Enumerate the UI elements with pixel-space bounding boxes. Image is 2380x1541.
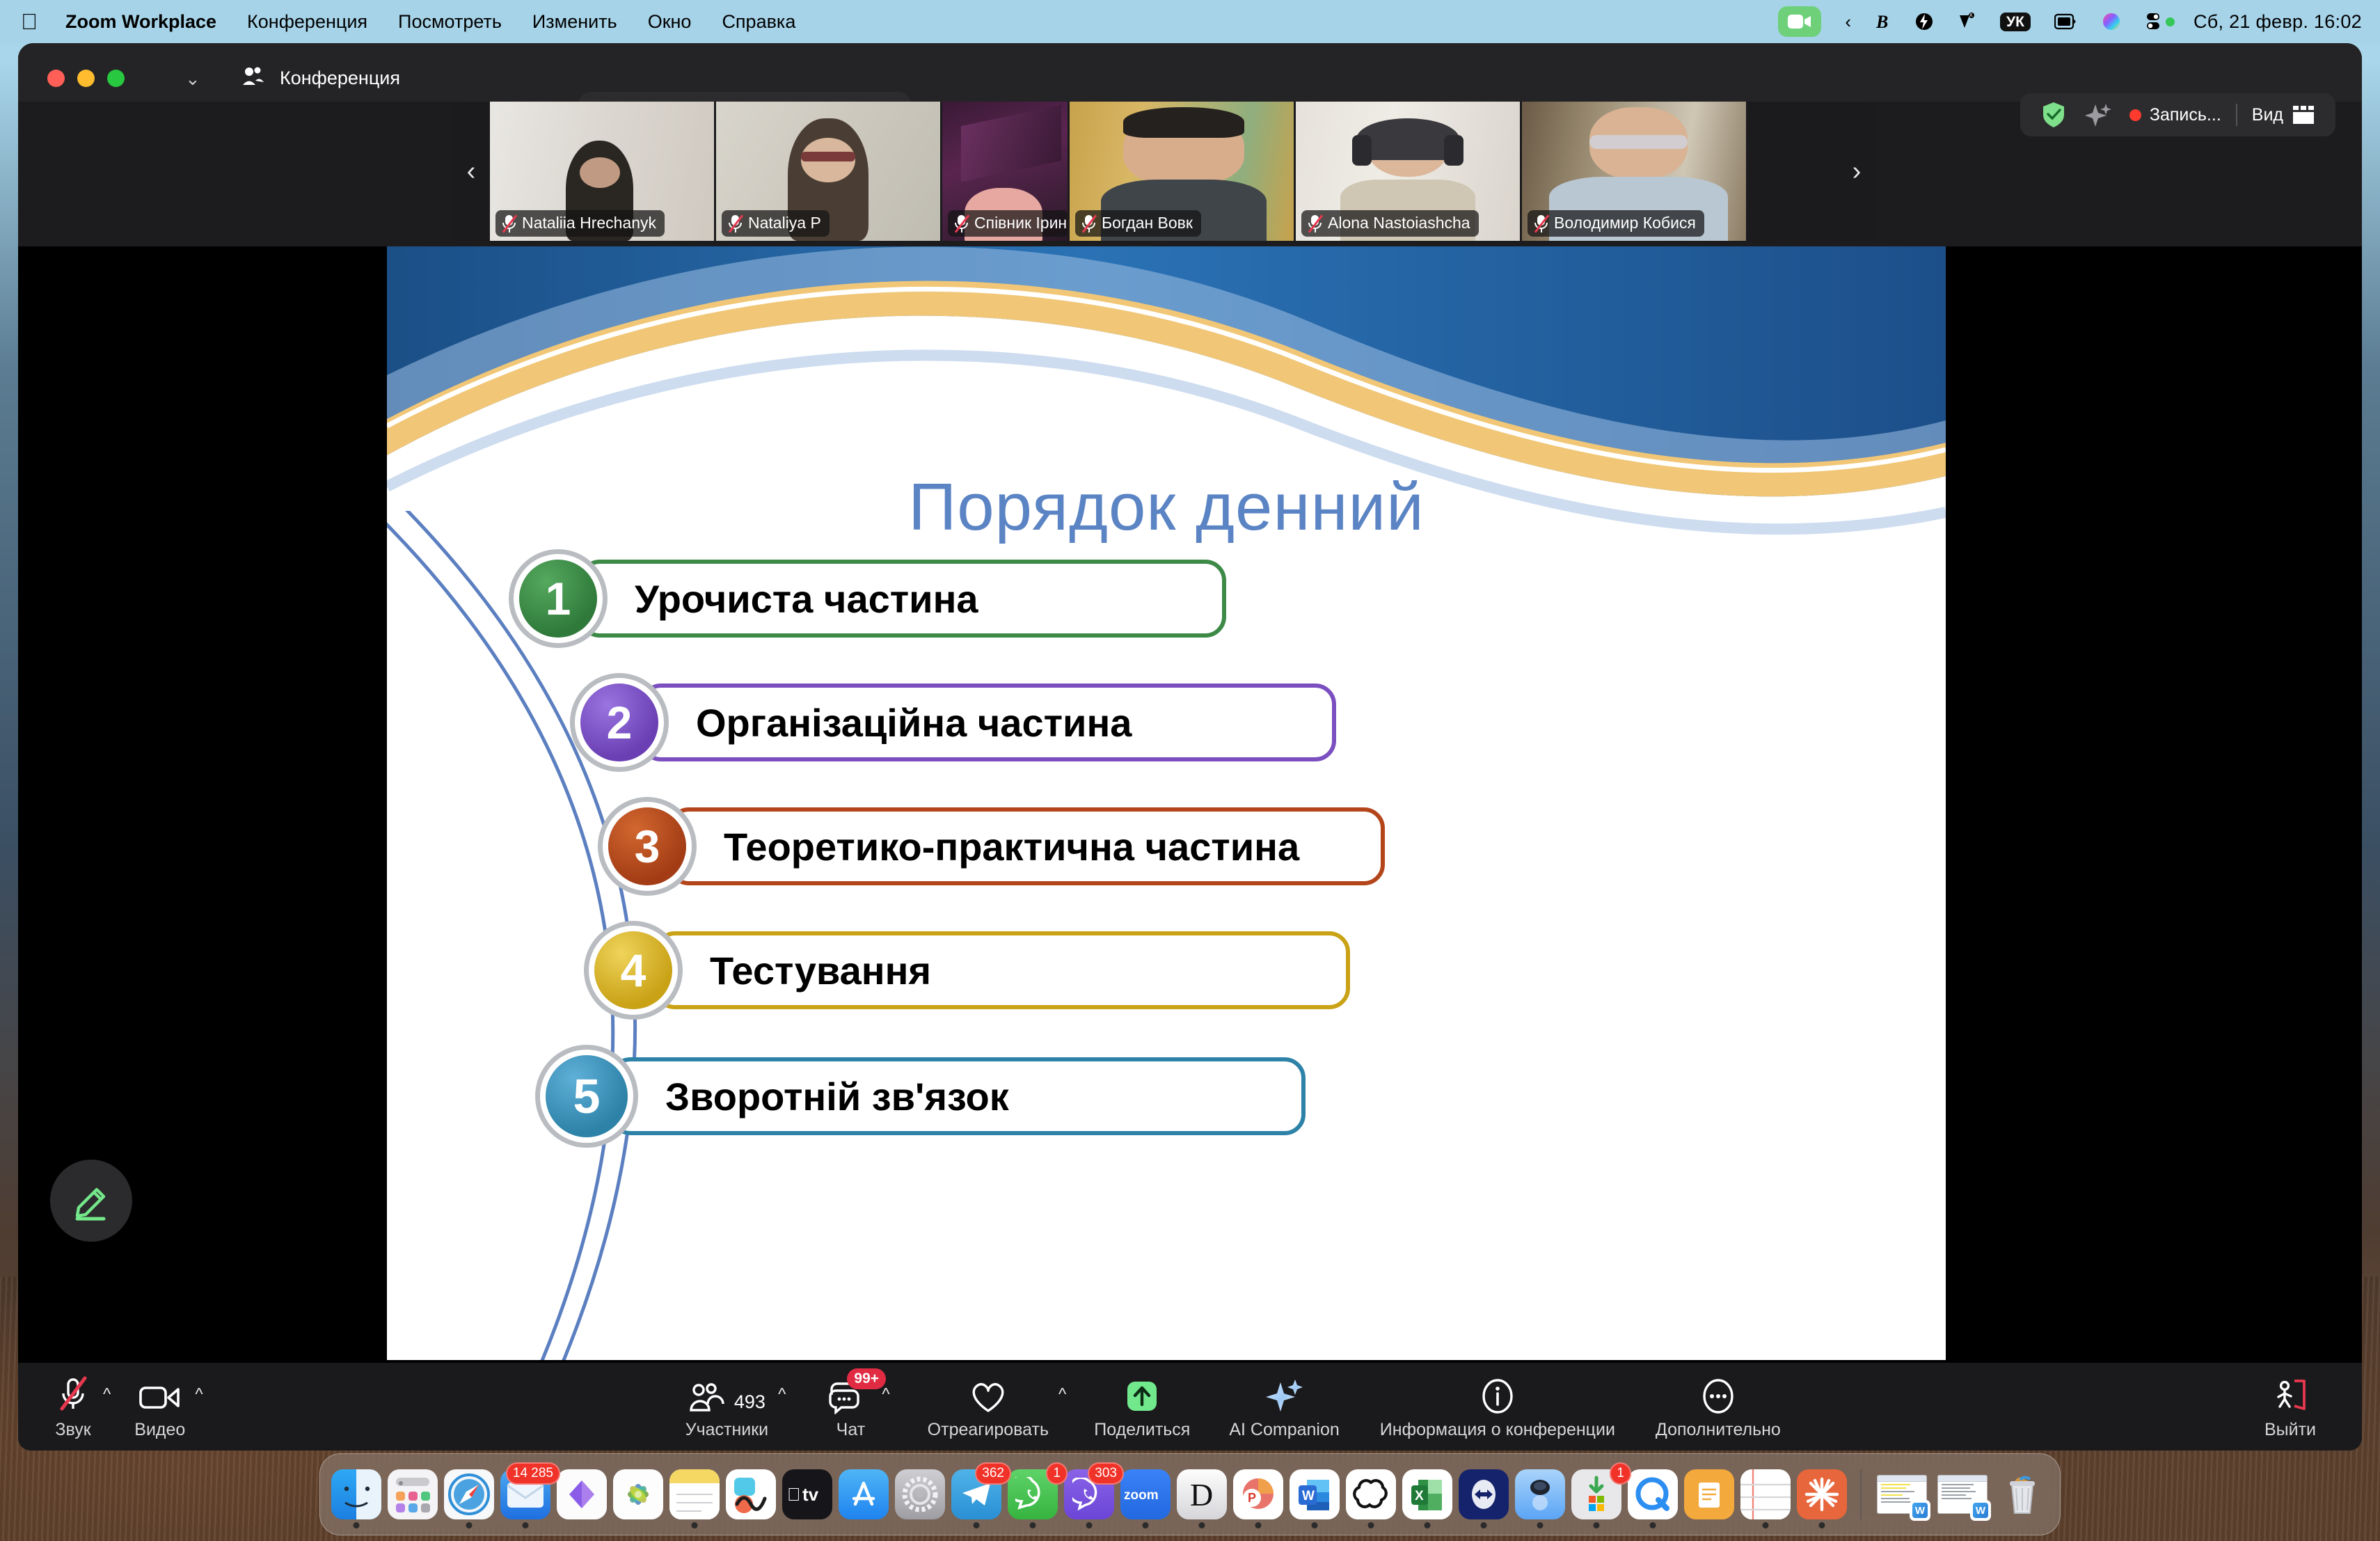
participants-button[interactable]: 493 Участники — [680, 1363, 774, 1451]
titlebar-right-controls: Запись... Вид — [2020, 93, 2335, 136]
pencil-icon — [69, 1178, 113, 1223]
agenda-number-label: 5 — [573, 1068, 601, 1124]
window-title-bar: ⌄ Конференция Экран (Mykola Zhurba) ⋯ — [18, 43, 2362, 102]
meeting-info-button[interactable]: Информация о конференции — [1374, 1363, 1621, 1451]
microphone-muted-icon — [53, 1374, 93, 1414]
agenda-item-number: 2 — [580, 683, 658, 761]
people-icon: 493 — [688, 1374, 765, 1414]
leave-label: Выйти — [2264, 1420, 2316, 1440]
ellipsis-circle-icon — [1700, 1374, 1736, 1414]
keyboard-layout-label: УК — [2000, 13, 2031, 31]
chatgpt-icon[interactable] — [1346, 1469, 1396, 1519]
word-document-window[interactable]: W — [1875, 1469, 1929, 1519]
zoom-camera-icon[interactable] — [1766, 0, 1833, 43]
mic-muted-icon — [1308, 214, 1322, 232]
recording-indicator[interactable]: Запись... — [2120, 105, 2230, 125]
menu-item-zoom-workplace[interactable]: Zoom Workplace — [50, 0, 232, 43]
running-dot — [692, 1522, 698, 1528]
photos-icon[interactable] — [613, 1469, 663, 1519]
display-icon[interactable] — [2042, 0, 2090, 43]
macos-menu-bar:  Zoom Workplace Конференция Посмотреть … — [0, 0, 2380, 43]
reactions-button[interactable]: Отреагировать — [922, 1363, 1054, 1451]
maximize-button[interactable] — [107, 70, 125, 87]
notes-icon[interactable] — [669, 1469, 720, 1519]
running-dot — [1594, 1522, 1600, 1528]
siri-icon[interactable] — [2090, 0, 2133, 43]
participant-name: Богдан Вовк — [1102, 214, 1193, 232]
app-store-icon[interactable] — [839, 1469, 889, 1519]
video-button[interactable]: Видео — [129, 1363, 191, 1451]
macos-dock: 14 285 tv — [319, 1453, 2061, 1535]
participant-name: Володимир Кобися — [1554, 214, 1696, 232]
menu-item-window[interactable]: Окно — [633, 0, 707, 43]
leave-door-icon — [2271, 1374, 2310, 1414]
participant-nameplate: Співник Ірина — [948, 210, 1068, 237]
meeting-toolbar: Звук ^ Видео ^ — [18, 1363, 2362, 1451]
anydesk-icon[interactable] — [1459, 1469, 1509, 1519]
running-dot — [1819, 1522, 1825, 1528]
agenda-item-number: 5 — [546, 1055, 628, 1137]
vpn-icon[interactable]: x — [1945, 0, 1988, 43]
running-dot — [1255, 1522, 1262, 1528]
participant-filmstrip: ‹ Nataliia Hrechanyk — [452, 102, 1875, 241]
camera-icon — [138, 1374, 182, 1414]
running-dot — [1537, 1522, 1544, 1528]
chat-button[interactable]: 99+ Чат — [823, 1363, 878, 1451]
participant-tile[interactable]: Alona Nastoiashcha — [1296, 102, 1520, 241]
agenda-item-pill: Організаційна частина — [640, 683, 1336, 761]
svg-text:B: B — [1875, 12, 1888, 32]
whatsapp-badge: 1 — [1046, 1462, 1068, 1485]
system-settings-icon[interactable] — [895, 1469, 945, 1519]
meeting-info-label: Информация о конференции — [1380, 1420, 1615, 1440]
keyboard-layout-indicator[interactable]: УК — [1988, 0, 2042, 43]
security-button[interactable] — [2031, 101, 2076, 129]
status-green-dot — [2166, 17, 2175, 26]
telegram-badge: 362 — [975, 1462, 1011, 1485]
menu-item-conference[interactable]: Конференция — [232, 0, 383, 43]
agenda-item-row[interactable]: 5 Зворотній зв'язок — [546, 1055, 1306, 1137]
word-icon[interactable]: W — [1290, 1469, 1340, 1519]
freeform-icon[interactable] — [557, 1469, 607, 1519]
agenda-number-label: 1 — [546, 572, 571, 625]
ai-companion-button[interactable]: AI Companion — [1223, 1363, 1344, 1451]
close-button[interactable] — [47, 70, 65, 87]
participant-nameplate: Nataliya P — [722, 210, 830, 237]
agenda-item-row[interactable]: 1 Урочиста частина — [519, 560, 1226, 638]
agenda-item-number: 1 — [519, 560, 597, 638]
running-dot — [1425, 1522, 1431, 1528]
menu-bar-clock[interactable]: Сб, 21 февр. 16:02 — [2187, 11, 2362, 33]
more-options-label: Дополнительно — [1656, 1420, 1781, 1440]
heart-icon — [969, 1374, 1008, 1414]
agenda-item-row[interactable]: 3 Теоретико-практична частина — [608, 807, 1385, 885]
svg-text:X: X — [1415, 1489, 1424, 1503]
agenda-item-number: 3 — [608, 807, 686, 885]
share-button[interactable]: Поделиться — [1088, 1363, 1196, 1451]
grid-view-icon — [2292, 104, 2315, 125]
running-dot — [1368, 1522, 1374, 1528]
agenda-item-pill: Тестування — [654, 931, 1350, 1009]
chat-label: Чат — [836, 1420, 865, 1440]
word-app-badge-icon: W — [1970, 1500, 1991, 1521]
participant-name: Alona Nastoiashcha — [1328, 214, 1470, 232]
svg-text:tv: tv — [802, 1484, 819, 1505]
ai-companion-label: AI Companion — [1229, 1420, 1339, 1440]
running-dot — [1481, 1522, 1487, 1528]
goodnotes-icon[interactable] — [726, 1469, 776, 1519]
viber-badge: 303 — [1088, 1462, 1124, 1485]
shield-icon — [2040, 101, 2067, 129]
launchpad-icon[interactable] — [388, 1469, 438, 1519]
control-center-chevron-icon[interactable]: ‹ — [1833, 0, 1863, 43]
powerpoint-icon[interactable]: P — [1233, 1469, 1283, 1519]
running-dot — [466, 1522, 473, 1528]
participant-name: Співник Ірина — [974, 214, 1068, 232]
microsoft-installer-icon[interactable]: 1 — [1571, 1469, 1621, 1519]
participant-tile[interactable]: Володимир Кобися — [1522, 102, 1746, 241]
running-dot — [1312, 1522, 1318, 1528]
mute-button[interactable]: Звук — [47, 1363, 99, 1451]
agenda-item-row[interactable]: 4 Тестування — [594, 931, 1350, 1009]
presentation-slide: Порядок денний 1 Урочиста частина 2 — [387, 246, 1946, 1360]
participants-label: Участники — [685, 1420, 768, 1440]
participant-tile[interactable]: Богдан Вовк — [1070, 102, 1294, 241]
ai-companion-button[interactable] — [2076, 102, 2120, 128]
mic-muted-icon — [955, 214, 968, 232]
participant-nameplate: Nataliia Hrechanyk — [495, 210, 665, 237]
participant-tile[interactable]: Nataliya P — [716, 102, 940, 241]
word-document-window[interactable]: W — [1935, 1469, 1990, 1519]
filmstrip-next-button[interactable]: › — [1838, 102, 1875, 241]
safari-icon[interactable] — [444, 1469, 494, 1519]
participant-name: Nataliya P — [748, 214, 821, 232]
ai-sparkle-icon — [2085, 102, 2111, 128]
running-dot — [1030, 1522, 1036, 1528]
leave-button[interactable]: Выйти — [2259, 1363, 2322, 1451]
telegram-icon[interactable]: 362 — [951, 1469, 1001, 1519]
filmstrip-tiles: Nataliia Hrechanyk Nataliya P — [490, 102, 1838, 241]
mic-muted-icon — [1082, 214, 1095, 232]
apple-menu-icon[interactable]:  — [15, 1, 50, 42]
share-up-arrow-icon — [1124, 1374, 1160, 1414]
agenda-item-number: 4 — [594, 931, 672, 1009]
running-dot — [1650, 1522, 1656, 1528]
running-dot — [1143, 1522, 1149, 1528]
svg-text:D: D — [1190, 1477, 1213, 1512]
mute-label: Звук — [55, 1420, 90, 1440]
svg-text:zoom: zoom — [1124, 1488, 1159, 1503]
whatsapp-icon[interactable]: 1 — [1008, 1469, 1058, 1519]
apple-tv-icon[interactable]: tv — [782, 1469, 832, 1519]
running-dot — [354, 1522, 360, 1528]
agenda-item-text: Зворотній зв'язок — [665, 1074, 1009, 1119]
svg-text:W: W — [1302, 1489, 1315, 1503]
quicktime-icon[interactable] — [1628, 1469, 1678, 1519]
participant-tile[interactable]: Співник Ірина — [942, 102, 1068, 241]
share-label: Поделиться — [1094, 1420, 1190, 1440]
traffic-lights — [47, 70, 125, 87]
agenda-item-row[interactable]: 2 Організаційна частина — [580, 683, 1336, 761]
video-label: Видео — [134, 1420, 185, 1440]
chat-unread-badge: 99+ — [847, 1368, 886, 1389]
flash-icon[interactable] — [1903, 0, 1945, 43]
finder-icon[interactable] — [331, 1469, 381, 1519]
window-title: Конференция — [280, 68, 400, 89]
viber-icon[interactable]: 303 — [1064, 1469, 1114, 1519]
camera-app-icon[interactable] — [1515, 1469, 1565, 1519]
participant-nameplate: Alona Nastoiashcha — [1301, 210, 1479, 237]
menu-item-view[interactable]: Посмотреть — [383, 0, 517, 43]
word-app-badge-icon: W — [1910, 1500, 1930, 1521]
bitwarden-icon[interactable]: B — [1863, 0, 1903, 43]
menu-item-edit[interactable]: Изменить — [517, 0, 633, 43]
pages-icon[interactable] — [1684, 1469, 1734, 1519]
participant-nameplate: Володимир Кобися — [1528, 210, 1704, 237]
agenda-item-text: Теоретико-практична частина — [724, 824, 1299, 869]
ai-sparkle-icon — [1266, 1374, 1303, 1414]
recording-dot-icon — [2129, 109, 2141, 121]
running-dot — [1086, 1522, 1093, 1528]
participants-caret-icon[interactable]: ^ — [774, 1385, 790, 1405]
agenda-item-pill: Теоретико-практична частина — [668, 807, 1385, 885]
dock-separator — [1860, 1469, 1862, 1519]
info-circle-icon — [1479, 1374, 1516, 1414]
svg-text:x: x — [1969, 11, 1973, 18]
participant-name: Nataliia Hrechanyk — [522, 214, 656, 232]
agenda-item-pill: Урочиста частина — [579, 560, 1226, 638]
view-button[interactable]: Вид — [2243, 104, 2324, 125]
running-dot — [1763, 1522, 1769, 1528]
view-label: Вид — [2252, 105, 2283, 125]
people-icon — [239, 64, 267, 92]
agenda-item-text: Тестування — [710, 948, 931, 993]
svg-text:P: P — [1248, 1491, 1256, 1505]
mic-muted-icon — [502, 214, 516, 232]
video-options-caret-icon[interactable]: ^ — [191, 1385, 207, 1405]
agenda-number-label: 3 — [635, 820, 660, 873]
mail-icon[interactable]: 14 285 — [500, 1469, 550, 1519]
agenda-item-text: Організаційна частина — [696, 700, 1132, 745]
participant-tile[interactable]: Nataliia Hrechanyk — [490, 102, 714, 241]
reactions-caret-icon[interactable]: ^ — [1054, 1385, 1070, 1405]
running-dot — [523, 1522, 529, 1528]
shared-screen-stage: Порядок денний 1 Урочиста частина 2 — [18, 246, 2362, 1363]
installer-badge: 1 — [1610, 1462, 1631, 1485]
reactions-label: Отреагировать — [928, 1420, 1049, 1440]
meeting-title-group: Конференция — [239, 64, 400, 92]
annotate-button[interactable] — [50, 1160, 132, 1242]
notebook-icon[interactable] — [1740, 1469, 1791, 1519]
control-center-icon[interactable] — [2133, 0, 2187, 43]
agenda-item-pill: Зворотній зв'язок — [610, 1057, 1306, 1135]
chat-bubble-icon: 99+ — [829, 1374, 872, 1414]
audio-options-caret-icon[interactable]: ^ — [99, 1385, 115, 1405]
trash-icon[interactable] — [1996, 1469, 2049, 1519]
chevron-down-icon[interactable]: ⌄ — [185, 68, 200, 90]
running-dot — [974, 1522, 980, 1528]
mic-muted-icon — [1534, 214, 1548, 232]
agenda-number-label: 2 — [607, 696, 633, 749]
starburst-icon[interactable] — [1797, 1469, 1847, 1519]
participants-count: 493 — [734, 1391, 765, 1413]
more-options-button[interactable]: Дополнительно — [1650, 1363, 1786, 1451]
menu-item-help[interactable]: Справка — [706, 0, 811, 43]
divider — [2236, 104, 2237, 126]
recording-label: Запись... — [2150, 105, 2221, 125]
minimize-button[interactable] — [77, 70, 95, 87]
agenda-item-text: Урочиста частина — [635, 576, 978, 622]
filmstrip-prev-button[interactable]: ‹ — [452, 102, 490, 241]
agenda-number-label: 4 — [621, 944, 646, 997]
svg-text::  — [787, 1484, 801, 1505]
mail-badge: 14 285 — [506, 1462, 560, 1485]
running-dot — [1199, 1522, 1205, 1528]
participant-nameplate: Богдан Вовк — [1075, 210, 1201, 237]
mic-muted-icon — [729, 214, 742, 232]
zoom-icon[interactable]: zoom — [1120, 1469, 1171, 1519]
excel-icon[interactable]: X — [1402, 1469, 1452, 1519]
zoom-meeting-window: ⌄ Конференция Экран (Mykola Zhurba) ⋯ — [18, 43, 2362, 1451]
dictionary-icon[interactable]: D — [1177, 1469, 1227, 1519]
